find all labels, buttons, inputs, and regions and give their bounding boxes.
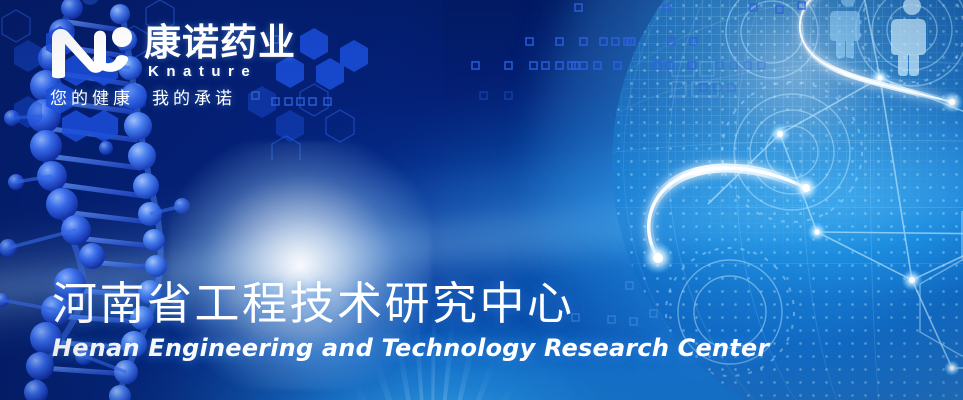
logo-slogan: 您的健康我的承诺	[50, 84, 236, 109]
logo-brand-en: Knature	[148, 63, 257, 80]
logo-brand-cn: 康诺药业	[144, 22, 296, 64]
headline-title-en: Henan Engineering and Technology Researc…	[52, 334, 752, 362]
logo-block[interactable]: 康诺药业 Knature 您的健康我的承诺	[48, 22, 378, 114]
headline-title-cn: 河南省工程技术研究中心	[52, 278, 752, 330]
logo-slogan-left: 您的健康	[50, 89, 134, 109]
logo-slogan-right: 我的承诺	[152, 89, 236, 109]
knature-n-logo-icon	[48, 24, 134, 80]
headline-block: 河南省工程技术研究中心 Henan Engineering and Techno…	[52, 278, 752, 362]
banner-root: 康诺药业 Knature 您的健康我的承诺 河南省工程技术研究中心 Henan …	[0, 0, 963, 400]
